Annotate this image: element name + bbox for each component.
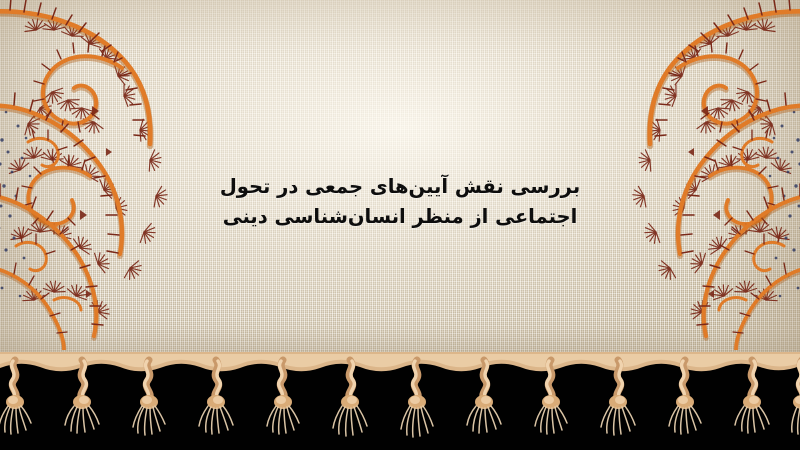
slide-title: بررسی نقش آیین‌های جمعی در تحول اجتماعی … <box>0 172 800 232</box>
title-line-1: بررسی نقش آیین‌های جمعی در تحول <box>0 172 800 202</box>
title-slide: بررسی نقش آیین‌های جمعی در تحول اجتماعی … <box>0 0 800 450</box>
title-line-2: اجتماعی از منظر انسان‌شناسی دینی <box>0 202 800 232</box>
dark-backdrop <box>0 360 800 450</box>
